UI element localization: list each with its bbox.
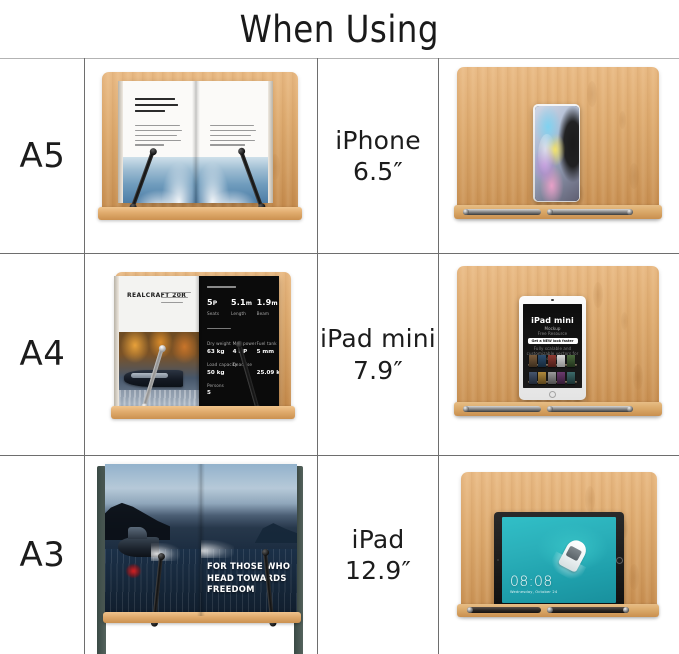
device-name: iPhone: [335, 126, 421, 155]
shelf-book-cover[interactable]: [538, 372, 546, 384]
slogan-line-1: FOR THOSE WHO: [207, 561, 290, 571]
device-label-ipad-mini: iPad mini 7.9″: [318, 254, 438, 455]
lockscreen-date: Wednesday, October 24: [510, 590, 557, 594]
a3-spray: [151, 543, 180, 561]
ipad-pro-screen: 08:08 Wednesday, October 24: [502, 517, 616, 603]
photo-iphone-on-stand: [439, 59, 679, 253]
home-button[interactable]: [616, 557, 623, 564]
iphone-screen: [535, 106, 579, 201]
a3-scene-right: FOR THOSE WHO HEAD TOWARDS FREEDOM: [201, 464, 297, 616]
device-label-ipad: iPad 12.9″: [318, 456, 438, 654]
iphone-wallpaper: [535, 106, 579, 201]
spec-1: 5P: [207, 298, 217, 307]
shelf-book-cover[interactable]: [538, 355, 546, 367]
a3-scene-left: [105, 464, 201, 616]
catalog-water: [119, 390, 199, 406]
photo-a3-book-stand: FOR THOSE WHO HEAD TOWARDS FREEDOM: [85, 456, 317, 654]
device-name: iPad mini: [320, 324, 436, 353]
spec-row-6-caption: Persons: [207, 383, 224, 388]
yacht-illustration: [548, 531, 599, 581]
screen-pill-badge[interactable]: Get a NEW look faster: [527, 338, 577, 344]
ledge-hinge-left: [463, 209, 541, 215]
paper-size-label-a3: A3: [1, 456, 84, 654]
iphone-device: [533, 104, 580, 202]
ledge-hinge-right: [547, 209, 633, 215]
ledge-hinge-left: [463, 406, 541, 412]
spec-row-3-value: 5 mm: [257, 349, 275, 355]
a5-open-book: [123, 81, 268, 203]
spec-row-4-value: 50 kg: [207, 370, 224, 376]
book-page-left: [123, 81, 196, 203]
ipad-mini-device: iPad mini Mockup Free Resource Get a NEW…: [519, 296, 586, 400]
spec-3: 1.9m: [257, 298, 278, 307]
bamboo-front-ledge: [111, 406, 295, 419]
comparison-grid: A5: [0, 58, 679, 654]
book-edge-left: [118, 81, 123, 203]
front-camera-icon: [497, 559, 499, 561]
ledge-hinge-left: [467, 607, 541, 613]
book-edge-right: [268, 81, 273, 203]
device-label-iphone: iPhone 6.5″: [318, 59, 438, 253]
spec-row-1-value: 63 kg: [207, 349, 224, 355]
photo-a4-book-stand: REALCRAFT 20R 5P 5.1m 1.9m: [85, 254, 317, 455]
page-title-bar: When Using: [0, 0, 679, 58]
ipad-mini-wallpaper: iPad mini Mockup Free Resource Get a NEW…: [523, 304, 582, 388]
a3-spray: [201, 540, 234, 558]
shelf-book-cover[interactable]: [567, 355, 575, 367]
shelf-book-cover[interactable]: [567, 372, 575, 384]
spec-1-caption: Seats: [207, 311, 219, 316]
spec-2: 5.1m: [231, 298, 252, 307]
shelf-book-cover[interactable]: [557, 355, 565, 367]
photo-ipad-mini-on-stand: iPad mini Mockup Free Resource Get a NEW…: [439, 254, 679, 455]
ipad-mini-screen: iPad mini Mockup Free Resource Get a NEW…: [523, 304, 582, 388]
home-button[interactable]: [549, 391, 556, 398]
a3-page-left: [105, 464, 201, 616]
product-spec-table-page: When Using A5: [0, 0, 679, 654]
catalog-foliage-photo: [119, 332, 199, 406]
shelf-book-cover[interactable]: [529, 355, 537, 367]
slogan-line-3: FREEDOM: [207, 584, 255, 594]
bamboo-front-ledge: [98, 207, 302, 220]
ledge-hinge-right: [547, 406, 633, 412]
device-name: iPad: [352, 525, 405, 554]
a3-page-right: FOR THOSE WHO HEAD TOWARDS FREEDOM: [201, 464, 297, 616]
lockscreen-time: 08:08: [510, 575, 553, 589]
a4-open-catalog: REALCRAFT 20R 5P 5.1m 1.9m: [119, 276, 279, 406]
device-size: 6.5″: [335, 156, 421, 187]
shelf-book-cover[interactable]: [548, 355, 556, 367]
a3-mountain-far: [255, 519, 297, 543]
shelf-book-cover[interactable]: [548, 372, 556, 384]
spec-row-3-caption: Fuel tank: [257, 341, 277, 346]
spec-3-caption: Beam: [257, 311, 270, 316]
shelf-book-cover[interactable]: [557, 372, 565, 384]
spec-row-1-caption: Dry weight: [207, 341, 231, 346]
book-edge-left: [114, 276, 119, 406]
photo-a5-book-stand: [85, 59, 317, 253]
spec-row-5-value: 25.09 kg: [257, 370, 279, 376]
photo-ipad-pro-on-stand: 08:08 Wednesday, October 24: [439, 456, 679, 654]
slogan-line-2: HEAD TOWARDS: [207, 573, 287, 583]
bamboo-front-ledge: [103, 612, 301, 623]
spec-row-6-value: 5: [207, 390, 211, 396]
paper-size-label-a4: A4: [1, 254, 84, 455]
spec-2-caption: Length: [231, 311, 246, 316]
device-size: 7.9″: [320, 355, 436, 386]
book-page-right: [196, 81, 269, 203]
catalog-page-left: REALCRAFT 20R: [119, 276, 199, 406]
shelf-book-cover[interactable]: [529, 372, 537, 384]
front-camera-icon: [551, 299, 553, 301]
page-title: When Using: [240, 11, 439, 48]
screen-subtitle-2: Free Resource: [523, 331, 582, 336]
screen-title: iPad mini: [523, 316, 582, 325]
device-size: 12.9″: [345, 555, 411, 586]
paper-size-label-a5: A5: [1, 59, 84, 253]
a3-slogan: FOR THOSE WHO HEAD TOWARDS FREEDOM: [207, 561, 290, 594]
ledge-hinge-right: [547, 607, 629, 613]
ipad-pro-wallpaper: 08:08 Wednesday, October 24: [502, 517, 616, 603]
ipad-pro-device: 08:08 Wednesday, October 24: [494, 512, 624, 608]
